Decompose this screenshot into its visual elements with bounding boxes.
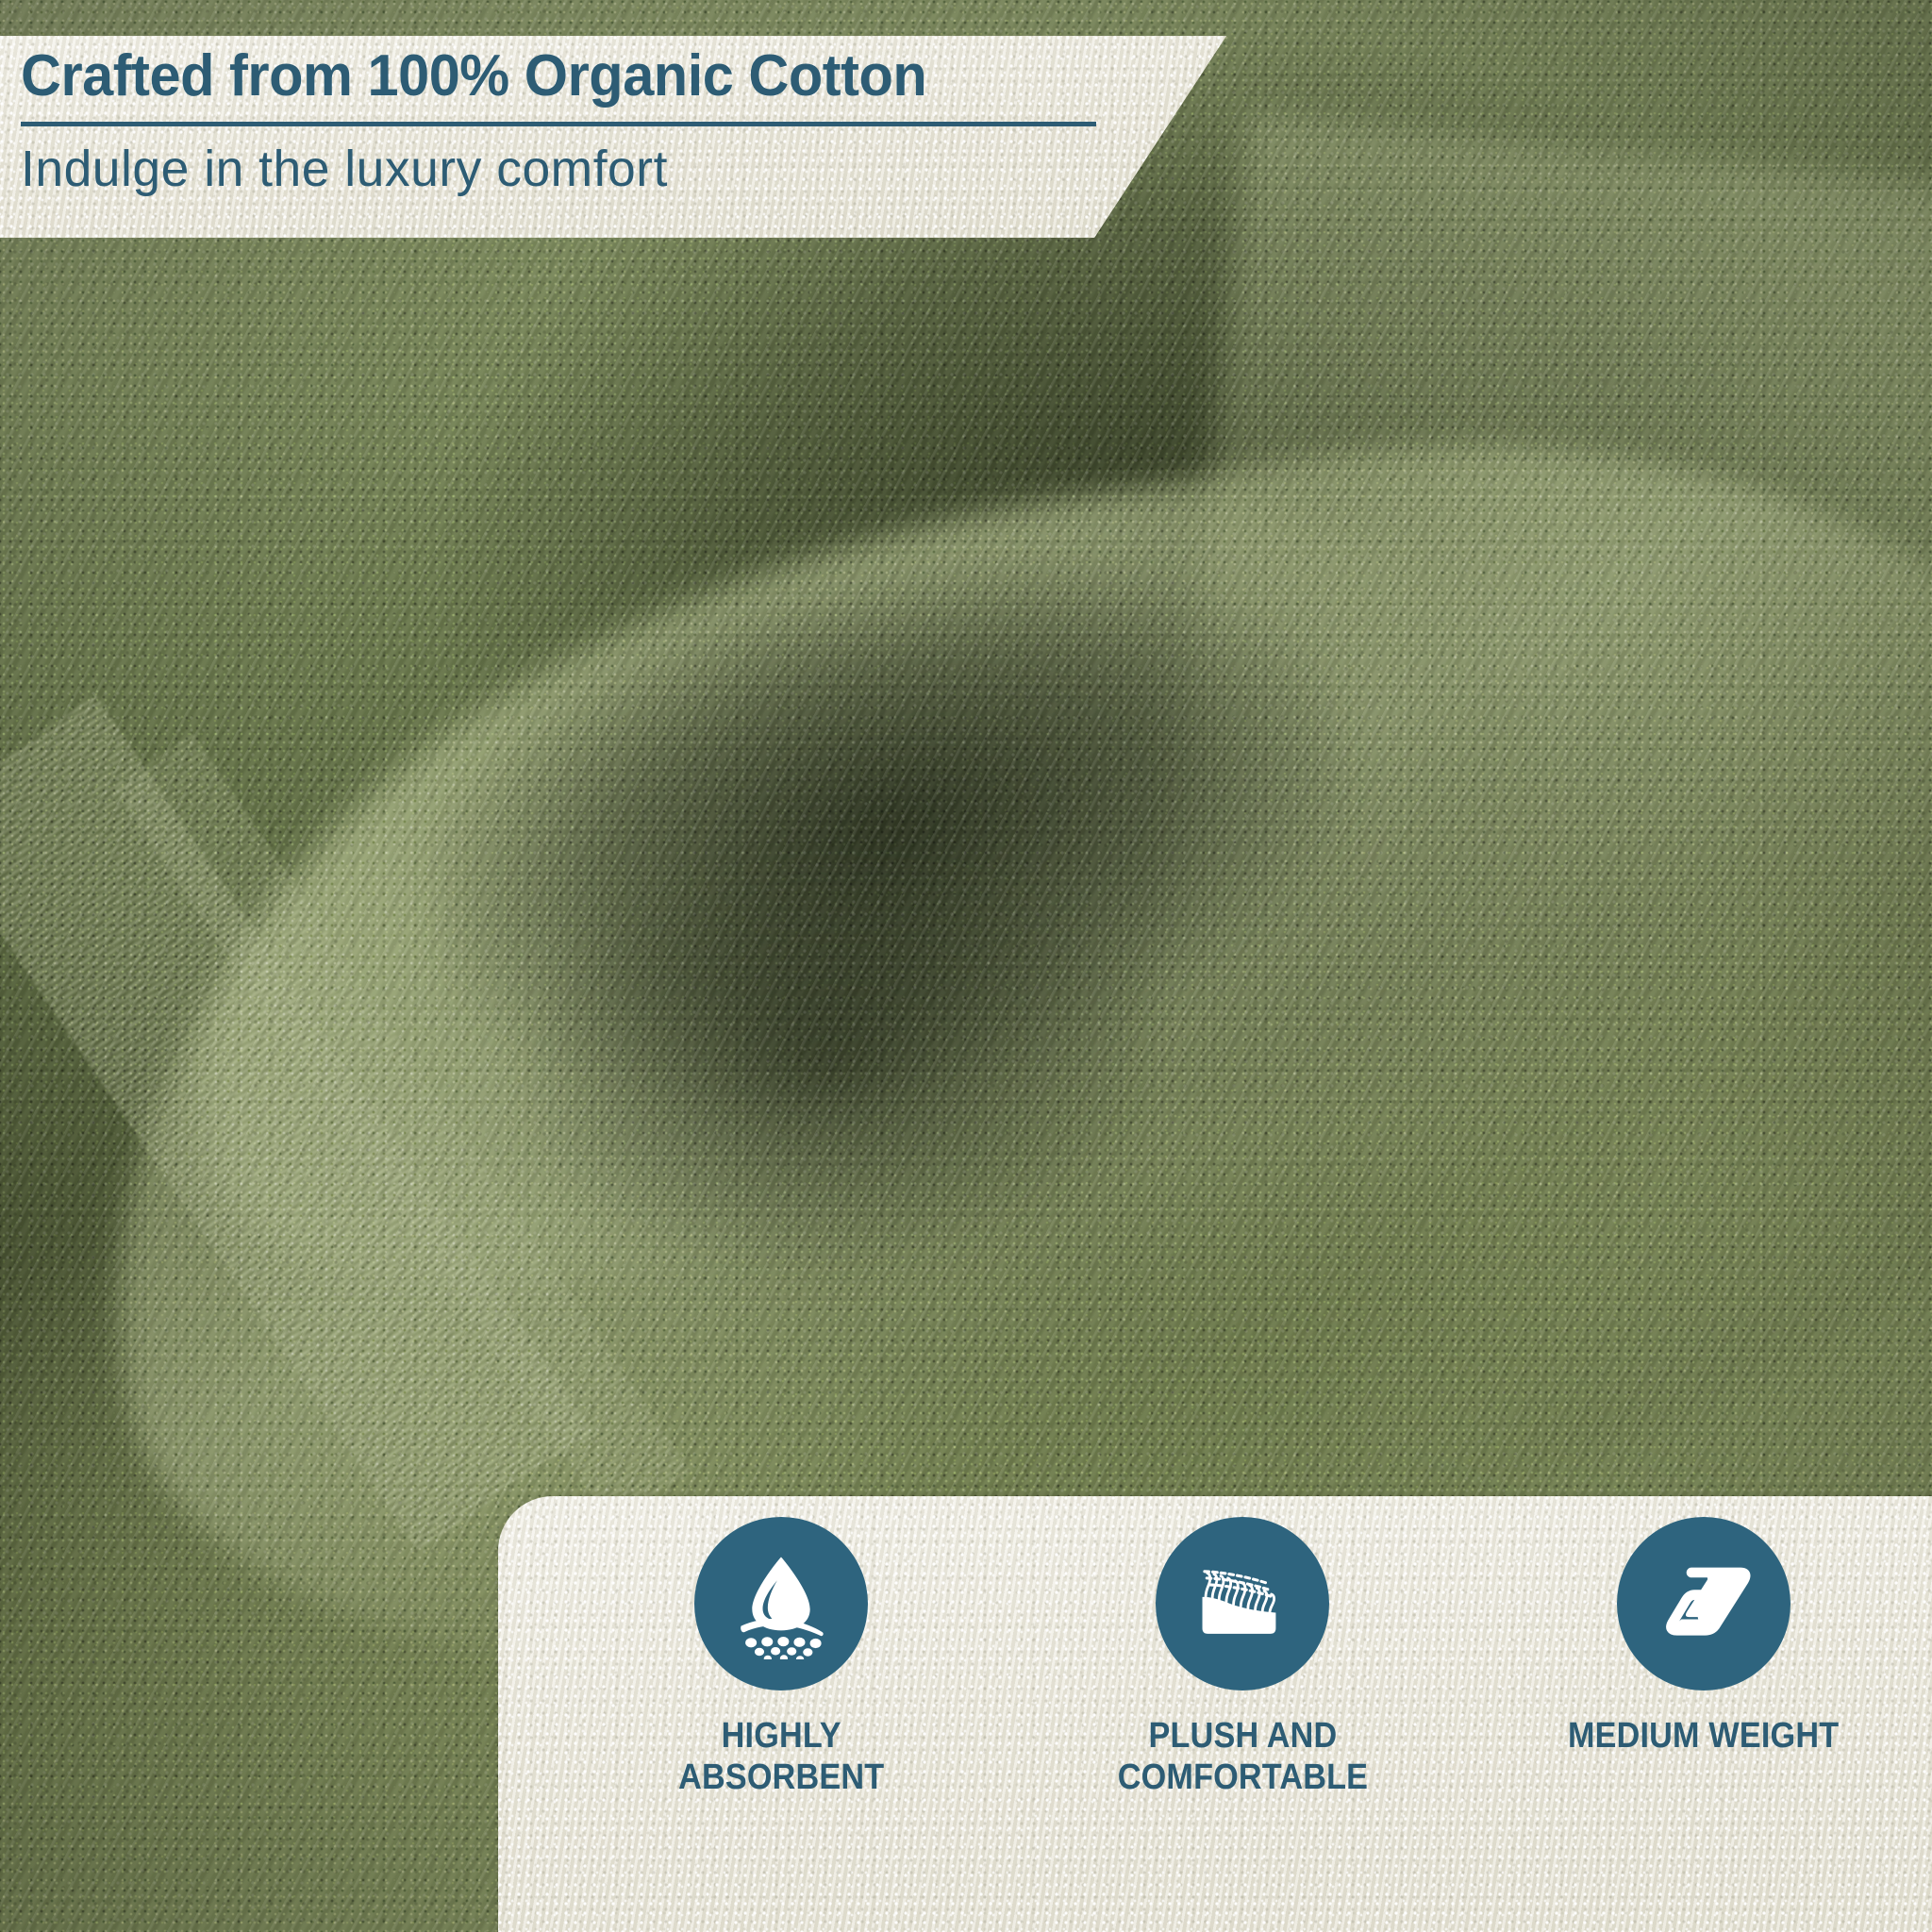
badge-label-line1: PLUSH AND xyxy=(1148,1716,1337,1756)
feature-badge-medium-weight: MEDIUM WEIGHT xyxy=(1473,1517,1932,1932)
headline-divider-rule xyxy=(21,122,1096,126)
badge-label: HIGHLY ABSORBENT xyxy=(678,1715,884,1798)
badge-label-line1: HIGHLY xyxy=(722,1716,841,1756)
feature-badge-highly-absorbent: HIGHLY ABSORBENT xyxy=(551,1517,1012,1932)
badge-label-line1: MEDIUM WEIGHT xyxy=(1568,1716,1839,1756)
plush-pile-fabric-icon xyxy=(1187,1548,1298,1659)
header-banner: Crafted from 100% Organic Cotton Indulge… xyxy=(0,36,1226,238)
badge-label-line2: COMFORTABLE xyxy=(1117,1757,1367,1798)
product-marketing-image: Crafted from 100% Organic Cotton Indulge… xyxy=(0,0,1932,1932)
subheadline-text: Indulge in the luxury comfort xyxy=(21,142,1214,197)
feature-badge-row: HIGHLY ABSORBENT xyxy=(498,1496,1932,1932)
badge-circle xyxy=(1617,1517,1790,1690)
feature-badge-panel: HIGHLY ABSORBENT xyxy=(498,1496,1932,1932)
badge-label-line2: ABSORBENT xyxy=(678,1757,884,1798)
badge-label: PLUSH AND COMFORTABLE xyxy=(1117,1715,1367,1798)
water-droplet-absorption-icon xyxy=(725,1548,837,1659)
header-banner-content: Crafted from 100% Organic Cotton Indulge… xyxy=(0,36,1226,238)
folded-towel-icon xyxy=(1648,1548,1759,1659)
feature-badge-plush-comfortable: PLUSH AND COMFORTABLE xyxy=(1012,1517,1474,1932)
badge-circle xyxy=(1156,1517,1329,1690)
badge-circle xyxy=(694,1517,868,1690)
headline-text: Crafted from 100% Organic Cotton xyxy=(21,43,1178,108)
badge-label: MEDIUM WEIGHT xyxy=(1568,1715,1839,1757)
